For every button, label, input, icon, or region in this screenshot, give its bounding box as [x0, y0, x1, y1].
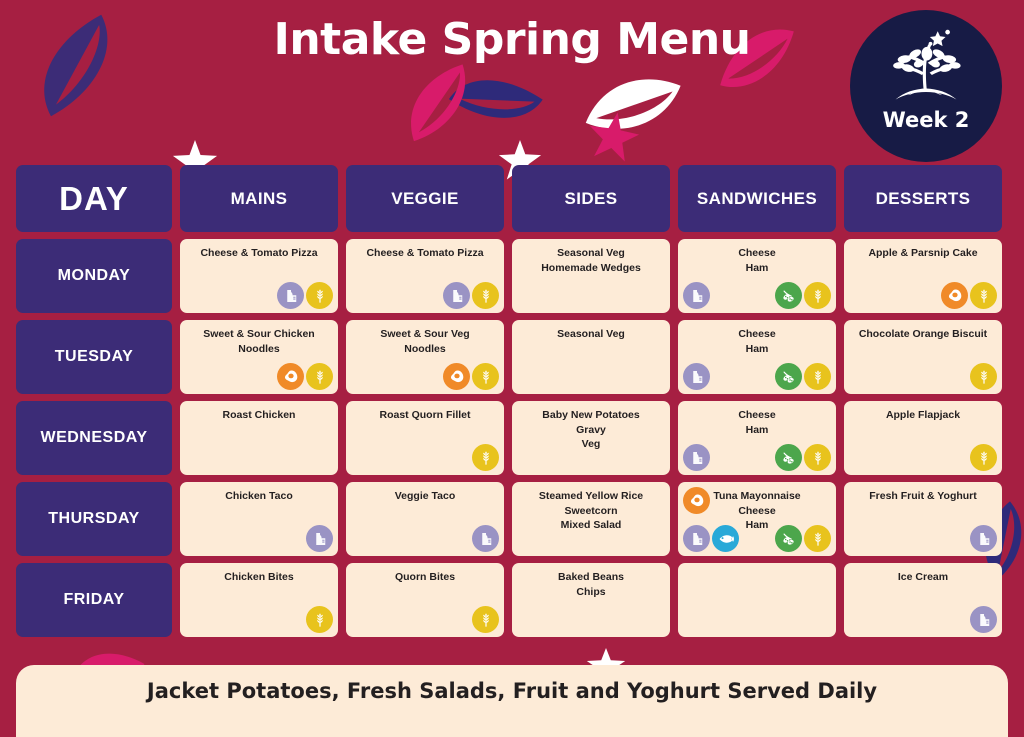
milk-allergen-icon — [443, 282, 470, 309]
menu-item-line: Homemade Wedges — [518, 261, 664, 276]
gluten-wheat-allergen-icon — [804, 525, 831, 552]
menu-item-line: Roast Chicken — [186, 408, 332, 423]
menu-cell-friday-veggie: Quorn Bites — [346, 563, 504, 637]
menu-item-text: Cheese & Tomato Pizza — [186, 246, 332, 261]
menu-item-text: Seasonal VegHomemade Wedges — [518, 246, 664, 275]
day-cell-tuesday: TUESDAY — [16, 320, 172, 394]
column-header-mains: MAINS — [180, 165, 338, 232]
menu-item-line: Mixed Salad — [518, 518, 664, 533]
egg-allergen-icon — [277, 363, 304, 390]
menu-item-text: Apple & Parsnip Cake — [850, 246, 996, 261]
column-header-label: SIDES — [564, 189, 617, 209]
menu-item-text: Veggie Taco — [352, 489, 498, 504]
allergen-group — [683, 363, 710, 390]
table-row: THURSDAYChicken TacoVeggie TacoSteamed Y… — [16, 482, 1008, 556]
menu-cell-wednesday-sandwiches: CheeseHam — [678, 401, 836, 475]
soya-allergen-icon — [775, 444, 802, 471]
column-header-label: VEGGIE — [391, 189, 459, 209]
gluten-wheat-allergen-icon — [804, 363, 831, 390]
gluten-wheat-allergen-icon — [306, 363, 333, 390]
menu-cell-tuesday-sides: Seasonal Veg — [512, 320, 670, 394]
milk-allergen-icon — [472, 525, 499, 552]
menu-item-text: CheeseHam — [684, 408, 830, 437]
milk-allergen-icon — [970, 606, 997, 633]
menu-cell-wednesday-desserts: Apple Flapjack — [844, 401, 1002, 475]
day-label: FRIDAY — [63, 591, 124, 609]
menu-item-line: Chicken Bites — [186, 570, 332, 585]
menu-item-line: Ham — [684, 261, 830, 276]
milk-allergen-icon — [683, 363, 710, 390]
menu-cell-tuesday-sandwiches: CheeseHam — [678, 320, 836, 394]
menu-item-line: Noodles — [352, 342, 498, 357]
egg-allergen-icon — [683, 487, 710, 514]
table-row: WEDNESDAYRoast ChickenRoast Quorn Fillet… — [16, 401, 1008, 475]
milk-allergen-icon — [683, 525, 710, 552]
menu-item-line: Cheese — [684, 246, 830, 261]
gluten-wheat-allergen-icon — [472, 282, 499, 309]
menu-item-line: Chocolate Orange Biscuit — [850, 327, 996, 342]
allergen-group — [970, 363, 997, 390]
menu-item-line: Ham — [684, 342, 830, 357]
menu-item-text: Roast Chicken — [186, 408, 332, 423]
allergen-group — [775, 525, 831, 552]
menu-item-text: Ice Cream — [850, 570, 996, 585]
column-header-sides: SIDES — [512, 165, 670, 232]
column-header-desserts: DESSERTS — [844, 165, 1002, 232]
menu-item-line: Quorn Bites — [352, 570, 498, 585]
menu-item-line: Cheese — [684, 408, 830, 423]
menu-item-text: Chocolate Orange Biscuit — [850, 327, 996, 342]
menu-item-text: Seasonal Veg — [518, 327, 664, 342]
gluten-wheat-allergen-icon — [970, 363, 997, 390]
allergen-group — [472, 606, 499, 633]
menu-item-line: Cheese & Tomato Pizza — [186, 246, 332, 261]
menu-cell-monday-sides: Seasonal VegHomemade Wedges — [512, 239, 670, 313]
menu-item-line: Sweet & Sour Chicken — [186, 327, 332, 342]
menu-cell-monday-sandwiches: CheeseHam — [678, 239, 836, 313]
menu-item-line: Chicken Taco — [186, 489, 332, 504]
gluten-wheat-allergen-icon — [306, 606, 333, 633]
menu-table: DAYMAINSVEGGIESIDESSANDWICHESDESSERTS MO… — [0, 165, 1024, 637]
allergen-group — [443, 363, 499, 390]
allergen-group — [683, 444, 710, 471]
allergen-group — [970, 525, 997, 552]
allergen-group — [472, 525, 499, 552]
day-cell-thursday: THURSDAY — [16, 482, 172, 556]
menu-item-line: Baked Beans — [518, 570, 664, 585]
menu-cell-tuesday-veggie: Sweet & Sour VegNoodles — [346, 320, 504, 394]
menu-item-line: Apple Flapjack — [850, 408, 996, 423]
week-badge: Week 2 — [850, 10, 1002, 162]
allergen-group — [941, 282, 997, 309]
day-label: THURSDAY — [48, 510, 139, 528]
allergen-group — [443, 282, 499, 309]
column-header-label: DESSERTS — [876, 189, 971, 209]
allergen-group — [306, 606, 333, 633]
menu-item-line: Sweetcorn — [518, 504, 664, 519]
menu-item-line: Cheese & Tomato Pizza — [352, 246, 498, 261]
page-header: Intake Spring Menu — [0, 0, 1024, 165]
gluten-wheat-allergen-icon — [306, 282, 333, 309]
menu-item-text: CheeseHam — [684, 246, 830, 275]
column-header-label: MAINS — [231, 189, 288, 209]
menu-item-text: Sweet & Sour ChickenNoodles — [186, 327, 332, 356]
gluten-wheat-allergen-icon — [472, 606, 499, 633]
menu-item-line: Gravy — [518, 423, 664, 438]
menu-item-line: Fresh Fruit & Yoghurt — [850, 489, 996, 504]
menu-item-text: Baked BeansChips — [518, 570, 664, 599]
allergen-group — [472, 444, 499, 471]
column-header-sandwiches: SANDWICHES — [678, 165, 836, 232]
menu-item-text: Chicken Taco — [186, 489, 332, 504]
menu-cell-thursday-mains: Chicken Taco — [180, 482, 338, 556]
gluten-wheat-allergen-icon — [970, 444, 997, 471]
menu-item-text: Apple Flapjack — [850, 408, 996, 423]
menu-cell-thursday-sides: Steamed Yellow RiceSweetcornMixed Salad — [512, 482, 670, 556]
day-cell-friday: FRIDAY — [16, 563, 172, 637]
menu-item-line: Steamed Yellow Rice — [518, 489, 664, 504]
allergen-group — [683, 525, 739, 552]
allergen-group — [775, 282, 831, 309]
table-row: MONDAYCheese & Tomato PizzaCheese & Toma… — [16, 239, 1008, 313]
menu-cell-monday-mains: Cheese & Tomato Pizza — [180, 239, 338, 313]
milk-allergen-icon — [683, 282, 710, 309]
menu-cell-monday-veggie: Cheese & Tomato Pizza — [346, 239, 504, 313]
day-cell-wednesday: WEDNESDAY — [16, 401, 172, 475]
table-header-row: DAYMAINSVEGGIESIDESSANDWICHESDESSERTS — [16, 165, 1008, 232]
menu-item-line: Chips — [518, 585, 664, 600]
menu-cell-friday-sides: Baked BeansChips — [512, 563, 670, 637]
menu-item-text: Chicken Bites — [186, 570, 332, 585]
menu-item-text: Quorn Bites — [352, 570, 498, 585]
day-cell-monday: MONDAY — [16, 239, 172, 313]
column-header-day: DAY — [16, 165, 172, 232]
menu-item-text: Cheese & Tomato Pizza — [352, 246, 498, 261]
milk-allergen-icon — [970, 525, 997, 552]
menu-cell-thursday-veggie: Veggie Taco — [346, 482, 504, 556]
menu-item-line: Cheese — [684, 327, 830, 342]
soya-allergen-icon — [775, 525, 802, 552]
allergen-group — [970, 444, 997, 471]
tree-logo-icon — [880, 24, 972, 114]
menu-cell-tuesday-mains: Sweet & Sour ChickenNoodles — [180, 320, 338, 394]
menu-item-line: Roast Quorn Fillet — [352, 408, 498, 423]
table-row: FRIDAYChicken BitesQuorn BitesBaked Bean… — [16, 563, 1008, 637]
menu-cell-monday-desserts: Apple & Parsnip Cake — [844, 239, 1002, 313]
menu-item-line: Ham — [684, 423, 830, 438]
menu-item-text: Baby New PotatoesGravyVeg — [518, 408, 664, 452]
menu-cell-friday-desserts: Ice Cream — [844, 563, 1002, 637]
menu-item-line: Seasonal Veg — [518, 327, 664, 342]
footer-banner: Jacket Potatoes, Fresh Salads, Fruit and… — [16, 665, 1008, 737]
soya-allergen-icon — [775, 363, 802, 390]
allergen-group — [683, 487, 710, 514]
column-header-label: SANDWICHES — [697, 189, 817, 209]
allergen-group — [277, 282, 333, 309]
menu-item-line: Seasonal Veg — [518, 246, 664, 261]
menu-cell-tuesday-desserts: Chocolate Orange Biscuit — [844, 320, 1002, 394]
allergen-group — [306, 525, 333, 552]
menu-cell-friday-sandwiches — [678, 563, 836, 637]
menu-cell-friday-mains: Chicken Bites — [180, 563, 338, 637]
column-header-veggie: VEGGIE — [346, 165, 504, 232]
gluten-wheat-allergen-icon — [472, 363, 499, 390]
soya-allergen-icon — [775, 282, 802, 309]
gluten-wheat-allergen-icon — [804, 444, 831, 471]
menu-item-line: Veg — [518, 437, 664, 452]
menu-item-text: Steamed Yellow RiceSweetcornMixed Salad — [518, 489, 664, 533]
egg-allergen-icon — [443, 363, 470, 390]
menu-cell-wednesday-mains: Roast Chicken — [180, 401, 338, 475]
week-badge-label: Week 2 — [883, 108, 970, 132]
gluten-wheat-allergen-icon — [472, 444, 499, 471]
menu-cell-wednesday-veggie: Roast Quorn Fillet — [346, 401, 504, 475]
footer-text: Jacket Potatoes, Fresh Salads, Fruit and… — [147, 679, 877, 703]
menu-item-line: Noodles — [186, 342, 332, 357]
menu-item-text: Roast Quorn Fillet — [352, 408, 498, 423]
allergen-group — [775, 444, 831, 471]
menu-item-line: Baby New Potatoes — [518, 408, 664, 423]
milk-allergen-icon — [306, 525, 333, 552]
egg-allergen-icon — [941, 282, 968, 309]
menu-item-text: Fresh Fruit & Yoghurt — [850, 489, 996, 504]
allergen-group — [775, 363, 831, 390]
menu-item-text: CheeseHam — [684, 327, 830, 356]
menu-item-line: Apple & Parsnip Cake — [850, 246, 996, 261]
column-header-label: DAY — [59, 180, 129, 218]
allergen-group — [277, 363, 333, 390]
table-row: TUESDAYSweet & Sour ChickenNoodlesSweet … — [16, 320, 1008, 394]
milk-allergen-icon — [277, 282, 304, 309]
fish-allergen-icon — [712, 525, 739, 552]
allergen-group — [970, 606, 997, 633]
menu-item-line: Ice Cream — [850, 570, 996, 585]
day-label: TUESDAY — [55, 348, 133, 366]
menu-item-line: Veggie Taco — [352, 489, 498, 504]
menu-cell-wednesday-sides: Baby New PotatoesGravyVeg — [512, 401, 670, 475]
menu-item-line: Sweet & Sour Veg — [352, 327, 498, 342]
gluten-wheat-allergen-icon — [970, 282, 997, 309]
menu-cell-thursday-desserts: Fresh Fruit & Yoghurt — [844, 482, 1002, 556]
gluten-wheat-allergen-icon — [804, 282, 831, 309]
allergen-group — [683, 282, 710, 309]
menu-cell-thursday-sandwiches: Tuna MayonnaiseCheeseHam — [678, 482, 836, 556]
day-label: WEDNESDAY — [40, 429, 147, 447]
menu-item-text: Sweet & Sour VegNoodles — [352, 327, 498, 356]
day-label: MONDAY — [58, 267, 131, 285]
milk-allergen-icon — [683, 444, 710, 471]
